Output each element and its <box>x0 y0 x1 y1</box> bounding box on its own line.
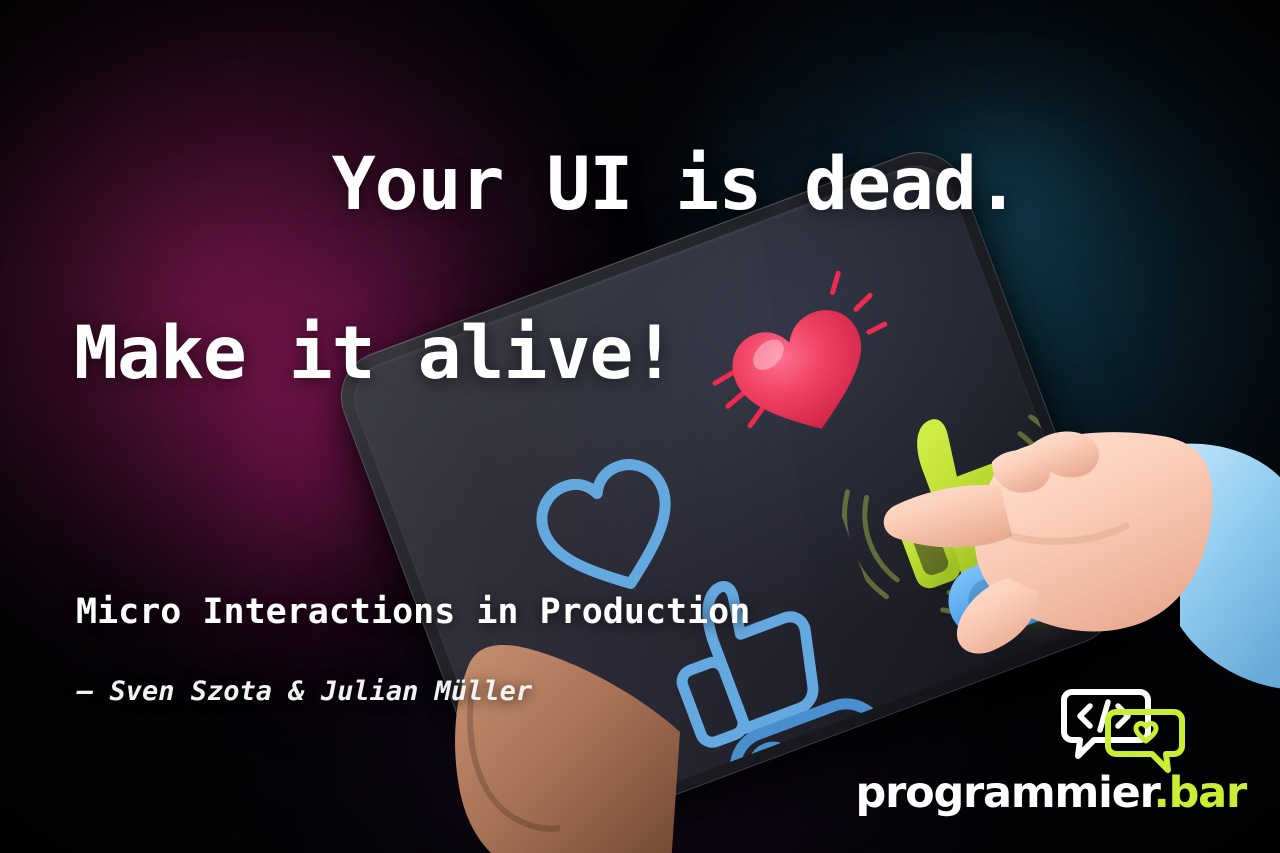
slide-canvas: Your UI is dead. Make it alive! Micro In… <box>0 0 1280 853</box>
speech-bubbles-icon <box>1060 682 1188 774</box>
headline-line-1: Your UI is dead. <box>332 142 1019 227</box>
wordmark: programmier.bar <box>856 772 1246 815</box>
brand-logo[interactable]: programmier.bar <box>856 682 1246 815</box>
code-glyph-icon <box>1080 702 1128 730</box>
subtitle: Micro Interactions in Production <box>76 592 1019 632</box>
text-block: Your UI is dead. Make it alive! Micro In… <box>74 58 1019 707</box>
headline-line-2: Make it alive! <box>74 312 1019 397</box>
page-title: Your UI is dead. Make it alive! <box>74 58 1019 566</box>
wordmark-primary: programmier <box>856 768 1154 818</box>
wordmark-accent: .bar <box>1153 768 1246 818</box>
